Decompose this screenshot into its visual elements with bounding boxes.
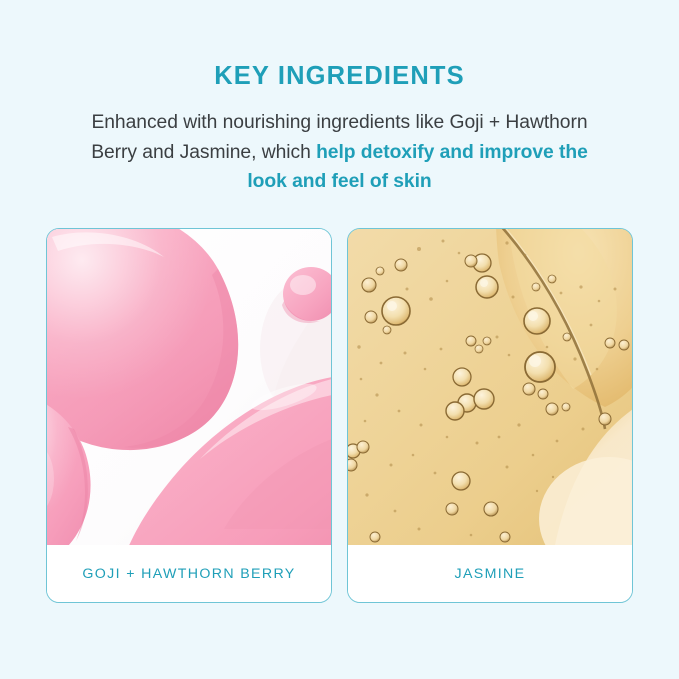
- ingredient-card-goji-hawthorn-berry[interactable]: GOJI + HAWTHORN BERRY: [46, 228, 332, 603]
- ingredient-card-list: GOJI + HAWTHORN BERRY: [46, 228, 633, 603]
- pink-fluid-droplets-photo: [47, 229, 331, 545]
- ingredient-image-jasmine: [348, 229, 632, 545]
- ingredient-card-jasmine[interactable]: JASMINE: [347, 228, 633, 603]
- golden-oil-bubbles-photo: [348, 229, 632, 545]
- page-subtitle: Enhanced with nourishing ingredients lik…: [0, 108, 679, 197]
- key-ingredients-panel: KEY INGREDIENTS Enhanced with nourishing…: [0, 0, 679, 679]
- page-title: KEY INGREDIENTS: [0, 62, 679, 91]
- ingredient-label-jasmine: JASMINE: [348, 545, 632, 602]
- header: KEY INGREDIENTS Enhanced with nourishing…: [0, 62, 679, 197]
- ingredient-label-goji-hawthorn-berry: GOJI + HAWTHORN BERRY: [47, 545, 331, 602]
- ingredient-image-goji-hawthorn-berry: [47, 229, 331, 545]
